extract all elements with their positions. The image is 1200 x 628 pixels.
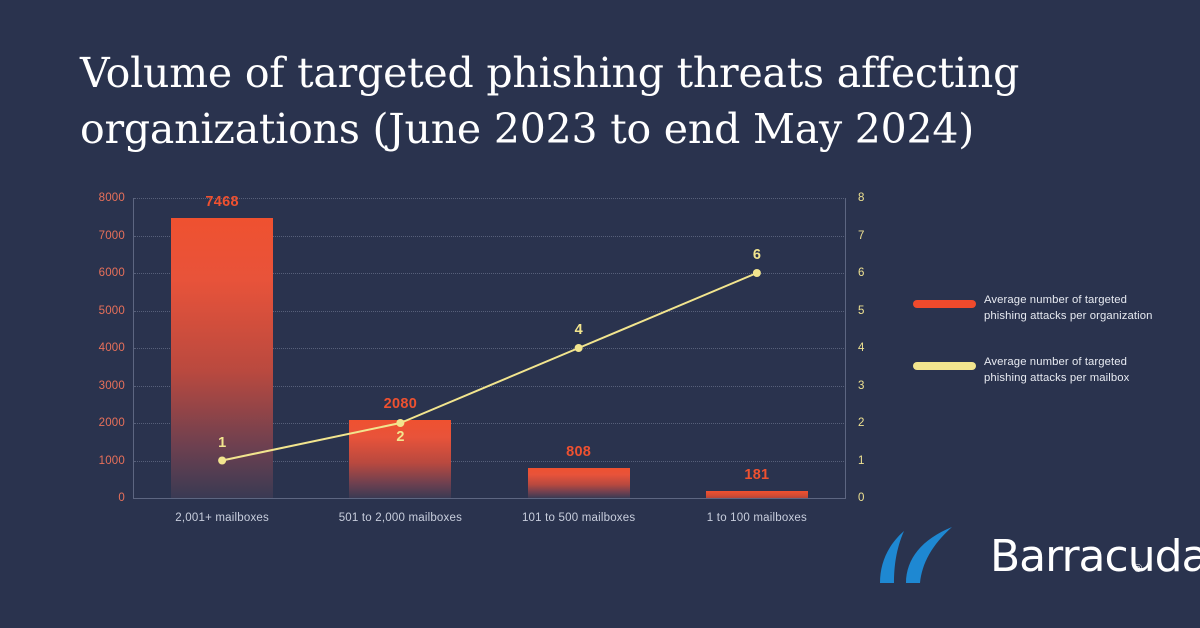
legend-swatch [913, 300, 976, 308]
y-axis-right-tick-label: 0 [858, 492, 884, 504]
y-axis-right-tick-label: 4 [858, 342, 884, 354]
y-axis-right-tick-label: 5 [858, 305, 884, 317]
legend-item[interactable]: Average number of targetedphishing attac… [913, 354, 1183, 388]
legend-label-line-1: Average number of targeted [984, 292, 1183, 308]
line-value-label: 6 [753, 247, 761, 263]
chart-plot-area: 74682080808181 1246 [133, 198, 846, 498]
legend-label: Average number of targetedphishing attac… [984, 354, 1183, 386]
x-axis-category-label: 2,001+ mailboxes [175, 512, 269, 524]
legend-label-line-2: phishing attacks per organization [984, 308, 1183, 324]
bar-value-label: 181 [744, 467, 769, 483]
logo-wordmark: Barracuda [990, 531, 1200, 582]
legend-swatch [913, 362, 976, 370]
y-axis-right-tick-label: 7 [858, 230, 884, 242]
bar-value-label: 2080 [384, 396, 417, 412]
y-axis-left-tick-label: 7000 [79, 230, 125, 242]
title-line-1: Volume of targeted phishing threats affe… [80, 46, 1150, 102]
legend-item[interactable]: Average number of targetedphishing attac… [913, 292, 1183, 326]
page-title: Volume of targeted phishing threats affe… [80, 46, 1150, 158]
bar-value-label: 808 [566, 444, 591, 460]
title-line-2: organizations (June 2023 to end May 2024… [80, 102, 1150, 158]
y-axis-right-tick-label: 2 [858, 417, 884, 429]
chart-legend: Average number of targetedphishing attac… [913, 292, 1183, 416]
line-value-label: 1 [218, 435, 226, 451]
line-path [222, 273, 757, 461]
legend-label-line-2: phishing attacks per mailbox [984, 370, 1183, 386]
x-axis-category-label: 501 to 2,000 mailboxes [339, 512, 462, 524]
y-axis-left-tick-label: 1000 [79, 455, 125, 467]
y-axis-left-tick-label: 0 [79, 492, 125, 504]
y-axis-right: 012345678 [858, 198, 898, 498]
line-value-label: 2 [396, 429, 404, 445]
y-axis-right-tick-label: 8 [858, 192, 884, 204]
infographic-canvas: Volume of targeted phishing threats affe… [0, 0, 1200, 628]
legend-label-line-1: Average number of targeted [984, 354, 1183, 370]
y-axis-left-tick-label: 5000 [79, 305, 125, 317]
y-axis-left-tick-label: 2000 [79, 417, 125, 429]
y-axis-left-tick-label: 4000 [79, 342, 125, 354]
x-axis-category-label: 1 to 100 mailboxes [707, 512, 807, 524]
y-axis-left-tick-label: 8000 [79, 192, 125, 204]
legend-label: Average number of targetedphishing attac… [984, 292, 1183, 324]
x-axis-category-label: 101 to 500 mailboxes [522, 512, 635, 524]
bar [706, 491, 808, 498]
logo-registered-mark: ® [1134, 563, 1142, 575]
bar [171, 218, 273, 498]
y-axis-right-tick-label: 1 [858, 455, 884, 467]
y-axis-right-tick-label: 3 [858, 380, 884, 392]
bar [528, 468, 630, 498]
line-value-label: 4 [575, 322, 583, 338]
y-axis-left-tick-label: 6000 [79, 267, 125, 279]
y-axis-left-tick-label: 3000 [79, 380, 125, 392]
y-axis-left: 010002000300040005000600070008000 [71, 198, 125, 498]
bar-value-label: 7468 [205, 194, 238, 210]
barracuda-fin-icon [866, 527, 984, 587]
gridline [134, 198, 846, 200]
axis-spine-bottom [133, 498, 846, 499]
barracuda-logo: Barracuda ® [866, 527, 1136, 589]
y-axis-right-tick-label: 6 [858, 267, 884, 279]
